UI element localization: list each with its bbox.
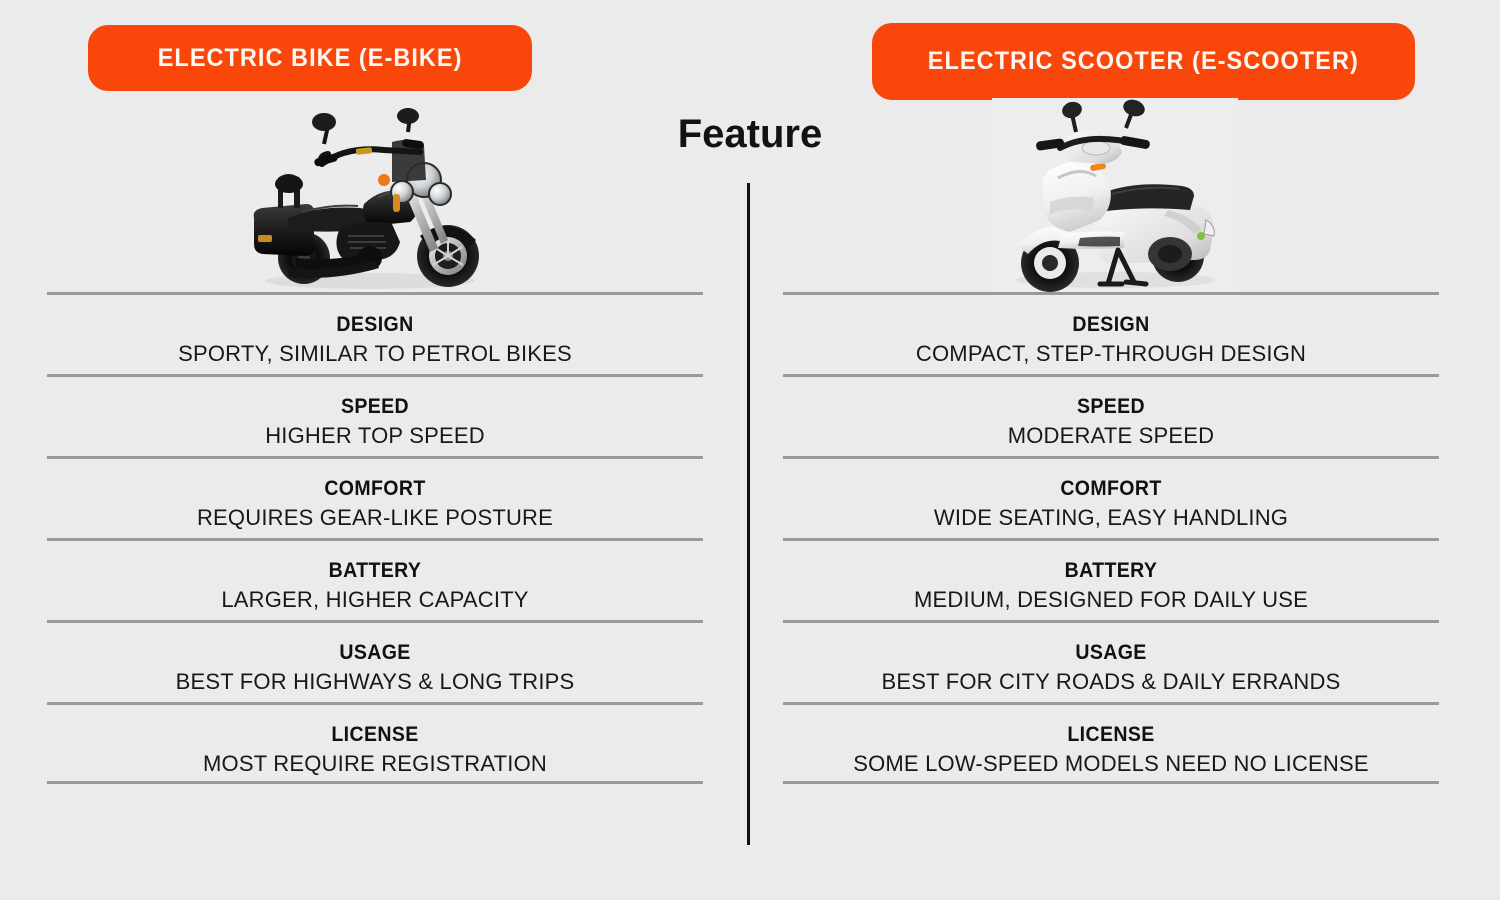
table-row: COMFORT WIDE SEATING, EASY HANDLING: [783, 456, 1439, 538]
comparison-column-electric-bike: DESIGN SPORTY, SIMILAR TO PETROL BIKES S…: [47, 292, 703, 784]
table-row: USAGE BEST FOR HIGHWAYS & LONG TRIPS: [47, 620, 703, 702]
row-value: WIDE SEATING, EASY HANDLING: [783, 507, 1439, 529]
table-row: DESIGN COMPACT, STEP-THROUGH DESIGN: [783, 292, 1439, 374]
electric-scooter-image: [992, 98, 1238, 298]
row-label: LICENSE: [70, 724, 680, 745]
electric-motorcycle-image: [252, 108, 498, 298]
row-label: USAGE: [70, 642, 680, 663]
header-pill-electric-bike-label: ELECTRIC BIKE (E-BIKE): [158, 44, 463, 73]
row-value: MOST REQUIRE REGISTRATION: [47, 753, 703, 775]
scooter-icon: [992, 98, 1238, 298]
feature-column-heading-text: Feature: [678, 112, 823, 157]
table-row: LICENSE SOME LOW-SPEED MODELS NEED NO LI…: [783, 702, 1439, 784]
row-label: COMFORT: [806, 478, 1416, 499]
row-value: BEST FOR CITY ROADS & DAILY ERRANDS: [783, 671, 1439, 693]
row-value: MEDIUM, DESIGNED FOR DAILY USE: [783, 589, 1439, 611]
row-label: LICENSE: [806, 724, 1416, 745]
row-value: LARGER, HIGHER CAPACITY: [47, 589, 703, 611]
table-row: SPEED HIGHER TOP SPEED: [47, 374, 703, 456]
table-row: USAGE BEST FOR CITY ROADS & DAILY ERRAND…: [783, 620, 1439, 702]
row-label: DESIGN: [806, 314, 1416, 335]
table-row: LICENSE MOST REQUIRE REGISTRATION: [47, 702, 703, 784]
motorcycle-icon: [252, 108, 498, 298]
feature-column-heading: Feature: [0, 112, 1500, 157]
row-label: SPEED: [806, 396, 1416, 417]
row-label: BATTERY: [806, 560, 1416, 581]
table-row: BATTERY MEDIUM, DESIGNED FOR DAILY USE: [783, 538, 1439, 620]
center-vertical-divider: [747, 183, 750, 845]
row-label: USAGE: [806, 642, 1416, 663]
table-row: COMFORT REQUIRES GEAR-LIKE POSTURE: [47, 456, 703, 538]
header-pill-electric-scooter-label: ELECTRIC SCOOTER (E-SCOOTER): [928, 47, 1359, 76]
row-value: SPORTY, SIMILAR TO PETROL BIKES: [47, 343, 703, 365]
row-value: SOME LOW-SPEED MODELS NEED NO LICENSE: [783, 753, 1439, 775]
table-row: SPEED MODERATE SPEED: [783, 374, 1439, 456]
table-row: DESIGN SPORTY, SIMILAR TO PETROL BIKES: [47, 292, 703, 374]
row-label: COMFORT: [70, 478, 680, 499]
header-pill-electric-scooter: ELECTRIC SCOOTER (E-SCOOTER): [872, 23, 1415, 100]
row-value: COMPACT, STEP-THROUGH DESIGN: [783, 343, 1439, 365]
row-label: BATTERY: [70, 560, 680, 581]
row-value: HIGHER TOP SPEED: [47, 425, 703, 447]
comparison-column-electric-scooter: DESIGN COMPACT, STEP-THROUGH DESIGN SPEE…: [783, 292, 1439, 784]
header-pill-electric-bike: ELECTRIC BIKE (E-BIKE): [88, 25, 532, 91]
row-label: SPEED: [70, 396, 680, 417]
row-label: DESIGN: [70, 314, 680, 335]
row-value: REQUIRES GEAR-LIKE POSTURE: [47, 507, 703, 529]
comparison-infographic: ELECTRIC BIKE (E-BIKE) ELECTRIC SCOOTER …: [0, 0, 1500, 900]
row-value: BEST FOR HIGHWAYS & LONG TRIPS: [47, 671, 703, 693]
row-value: MODERATE SPEED: [783, 425, 1439, 447]
table-row: BATTERY LARGER, HIGHER CAPACITY: [47, 538, 703, 620]
